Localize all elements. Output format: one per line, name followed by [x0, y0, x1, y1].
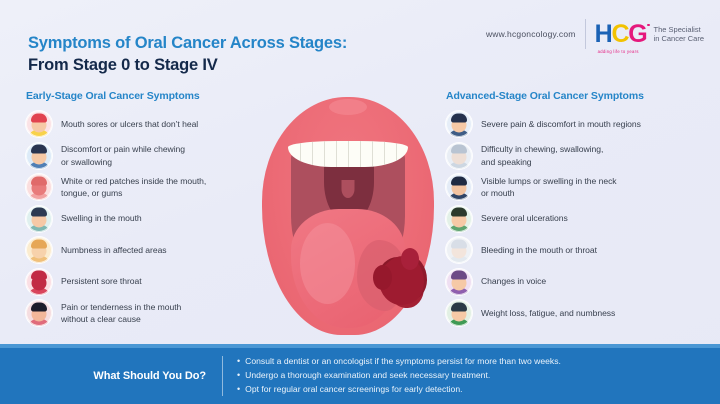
difficulty-eat-icon	[446, 143, 472, 169]
avatar-hair	[451, 239, 467, 248]
avatar-hair	[451, 208, 467, 217]
early-stage-heading: Early-Stage Oral Cancer Symptoms	[26, 90, 276, 102]
logo-tagline: adding life to years	[598, 50, 639, 54]
symptom-label: Mouth sores or ulcers that don’t heal	[61, 118, 198, 130]
avatar-hair	[451, 176, 467, 185]
avatar-hair	[31, 145, 47, 154]
banner-points-list: •Consult a dentist or an oncologist if t…	[223, 355, 561, 397]
avatar-hair	[31, 271, 47, 280]
weight-loss-icon	[446, 300, 472, 326]
red-patch-icon	[26, 174, 52, 200]
mouth-ulcer-icon	[26, 111, 52, 137]
symptom-label: Persistent sore throat	[61, 275, 142, 287]
symptom-label: White or red patches inside the mouth,to…	[61, 175, 206, 199]
banner-point: •Undergo a thorough examination and seek…	[237, 369, 561, 383]
brand-bar: www.hcgoncology.com H C G adding life to…	[486, 18, 704, 50]
advanced-stage-heading: Advanced-Stage Oral Cancer Symptoms	[446, 90, 708, 102]
avatar-hair	[451, 271, 467, 280]
sore-throat-head-icon	[26, 269, 52, 295]
symptom-item: Difficulty in chewing, swallowing,and sp…	[446, 143, 708, 169]
bullet-icon: •	[237, 383, 240, 397]
tumor-lesion-shape	[382, 256, 423, 304]
symptom-item: White or red patches inside the mouth,to…	[26, 174, 276, 200]
avatar-hair	[31, 113, 47, 122]
bleeding-icon	[446, 237, 472, 263]
logo-letter-g: G	[628, 22, 646, 47]
banner-point-text: Undergo a thorough examination and seek …	[245, 369, 490, 383]
avatar-hair	[451, 145, 467, 154]
advanced-stage-column: Advanced-Stage Oral Cancer Symptoms Seve…	[446, 90, 708, 332]
symptom-item: Changes in voice	[446, 269, 708, 295]
call-to-action-banner: What Should You Do? •Consult a dentist o…	[0, 344, 720, 404]
person-chewing-icon	[26, 143, 52, 169]
avatar-hair	[31, 176, 47, 185]
title-line-2: From Stage 0 to Stage IV	[28, 55, 458, 77]
symptom-label: Swelling in the mouth	[61, 212, 142, 224]
logo-letter-c: C	[611, 22, 628, 47]
symptom-item: Pain or tenderness in the mouthwithout a…	[26, 300, 276, 326]
symptom-label: Weight loss, fatigue, and numbness	[481, 307, 615, 319]
logo-mark: H C G adding life to years	[595, 22, 647, 47]
website-url[interactable]: www.hcgoncology.com	[486, 29, 576, 39]
swollen-cheek-icon	[26, 206, 52, 232]
banner-question: What Should You Do?	[0, 370, 222, 382]
symptom-label: Severe pain & discomfort in mouth region…	[481, 118, 641, 130]
avatar-hair	[31, 208, 47, 217]
logo-letter-h: H	[595, 22, 612, 47]
logo-tagline-block: The Specialist in Cancer Care	[654, 25, 704, 44]
symptom-label: Changes in voice	[481, 275, 546, 287]
symptom-item: Weight loss, fatigue, and numbness	[446, 300, 708, 326]
upper-lip-highlight	[329, 99, 367, 115]
severe-pain-icon	[446, 111, 472, 137]
logo-tagline-line1: The Specialist	[654, 25, 704, 34]
uvula-shape	[342, 180, 355, 198]
page-title: Symptoms of Oral Cancer Across Stages: F…	[28, 33, 458, 77]
woman-pain-icon	[26, 300, 52, 326]
brand-divider	[585, 19, 586, 49]
hcg-logo[interactable]: H C G adding life to years The Specialis…	[595, 22, 704, 47]
banner-point-text: Consult a dentist or an oncologist if th…	[245, 355, 561, 369]
avatar-hair	[451, 113, 467, 122]
symptom-label: Pain or tenderness in the mouthwithout a…	[61, 301, 181, 325]
bullet-icon: •	[237, 355, 240, 369]
logo-dot-icon	[647, 24, 650, 27]
symptom-label: Visible lumps or swelling in the neckor …	[481, 175, 617, 199]
voice-change-icon	[446, 269, 472, 295]
logo-tagline-line2: in Cancer Care	[654, 34, 704, 43]
banner-point: •Opt for regular oral cancer screenings …	[237, 383, 561, 397]
ulceration-icon	[446, 206, 472, 232]
neck-lump-icon	[446, 174, 472, 200]
symptom-item: Severe oral ulcerations	[446, 206, 708, 232]
symptom-label: Numbness in affected areas	[61, 244, 167, 256]
symptom-item: Severe pain & discomfort in mouth region…	[446, 111, 708, 137]
symptom-item: Discomfort or pain while chewingor swall…	[26, 143, 276, 169]
symptom-label: Difficulty in chewing, swallowing,and sp…	[481, 143, 603, 167]
avatar-hair	[451, 302, 467, 311]
numb-face-icon	[26, 237, 52, 263]
advanced-stage-list: Severe pain & discomfort in mouth region…	[446, 111, 708, 326]
tongue-highlight	[300, 223, 355, 304]
symptom-item: Visible lumps or swelling in the neckor …	[446, 174, 708, 200]
early-stage-column: Early-Stage Oral Cancer Symptoms Mouth s…	[26, 90, 276, 332]
banner-point-text: Opt for regular oral cancer screenings f…	[245, 383, 462, 397]
early-stage-list: Mouth sores or ulcers that don’t healDis…	[26, 111, 276, 326]
avatar-hair	[31, 239, 47, 248]
symptom-label: Discomfort or pain while chewingor swall…	[61, 143, 185, 167]
symptom-item: Persistent sore throat	[26, 269, 276, 295]
symptom-item: Swelling in the mouth	[26, 206, 276, 232]
symptom-item: Numbness in affected areas	[26, 237, 276, 263]
infographic-poster: www.hcgoncology.com H C G adding life to…	[0, 0, 720, 404]
open-mouth-illustration	[262, 97, 434, 335]
avatar-hair	[31, 302, 47, 311]
banner-point: •Consult a dentist or an oncologist if t…	[237, 355, 561, 369]
symptom-item: Bleeding in the mouth or throat	[446, 237, 708, 263]
title-line-1: Symptoms of Oral Cancer Across Stages:	[28, 33, 458, 55]
symptom-label: Severe oral ulcerations	[481, 212, 568, 224]
symptom-item: Mouth sores or ulcers that don’t heal	[26, 111, 276, 137]
symptom-label: Bleeding in the mouth or throat	[481, 244, 597, 256]
bullet-icon: •	[237, 369, 240, 383]
